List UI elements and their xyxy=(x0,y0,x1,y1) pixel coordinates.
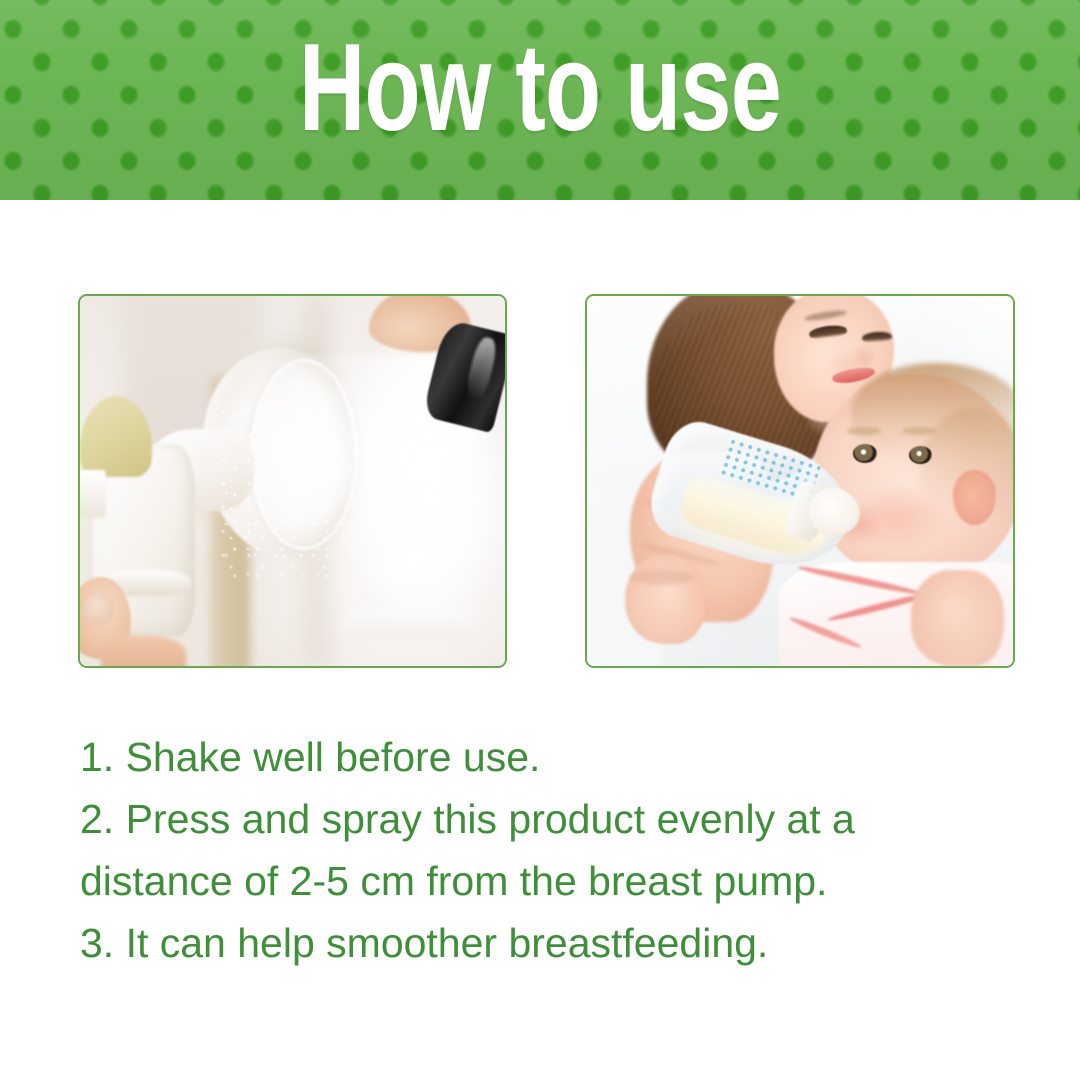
instruction-line-4: 3. It can help smoother breastfeeding. xyxy=(80,912,1010,974)
hand-fingers xyxy=(101,636,186,666)
baby-eyebrow-left xyxy=(847,427,881,434)
mother-nose xyxy=(855,344,876,366)
header-banner: How to use xyxy=(0,0,1080,200)
baby-eyebrow-right xyxy=(902,427,936,434)
photo-panels xyxy=(0,200,1080,700)
photo-mother-feeding-baby xyxy=(585,294,1015,668)
baby-hand xyxy=(625,555,706,644)
instruction-line-1: 1. Shake well before use. xyxy=(80,726,1010,788)
instruction-line-3: distance of 2-5 cm from the breast pump. xyxy=(80,850,1010,912)
photo-breast-pump-spraying xyxy=(78,294,507,668)
breast-pump-handle xyxy=(80,470,106,518)
instructions-list: 1. Shake well before use. 2. Press and s… xyxy=(80,726,1010,974)
baby-arm xyxy=(911,570,1005,666)
baby-hand-fingers xyxy=(630,570,694,585)
spray-droplets xyxy=(220,407,399,577)
page-title: How to use xyxy=(140,26,939,150)
photo-right-stage xyxy=(587,296,1013,666)
photo-left-stage xyxy=(80,296,505,666)
instruction-line-2: 2. Press and spray this product evenly a… xyxy=(80,788,1010,850)
baby-eye-left xyxy=(853,444,877,463)
left-photo-shelf xyxy=(344,611,472,637)
thumb-nail xyxy=(84,592,114,625)
